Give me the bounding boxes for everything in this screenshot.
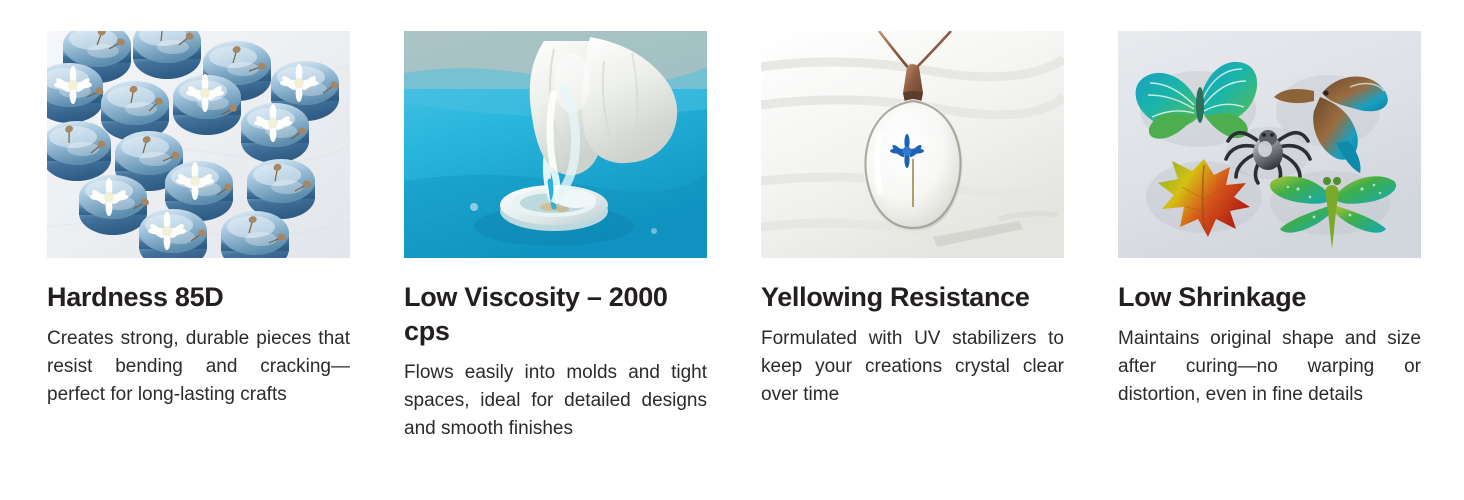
feature-heading: Low Shrinkage (1118, 280, 1421, 314)
feature-grid: Hardness 85D Creates strong, durable pie… (0, 0, 1464, 443)
feature-heading: Hardness 85D (47, 280, 350, 314)
colorful-resin-animal-figurines-photo (1118, 31, 1421, 258)
feature-description: Maintains original shape and size after … (1118, 325, 1421, 409)
feature-card-yellowing-resistance: Yellowing Resistance Formulated with UV … (761, 31, 1064, 443)
blue-resin-discs-with-pressed-flowers-photo (47, 31, 350, 258)
teardrop-resin-pendant-necklace-photo (761, 31, 1064, 258)
gloved-hand-pouring-resin-into-mold-photo (404, 31, 707, 258)
feature-heading: Yellowing Resistance (761, 280, 1064, 314)
feature-card-low-shrinkage: Low Shrinkage Maintains original shape a… (1118, 31, 1421, 443)
feature-description: Flows easily into molds and tight spaces… (404, 359, 707, 443)
feature-description: Formulated with UV stabilizers to keep y… (761, 325, 1064, 409)
feature-heading: Low Viscosity – 2000 cps (404, 280, 707, 348)
feature-description: Creates strong, durable pieces that resi… (47, 325, 350, 409)
feature-card-low-viscosity: Low Viscosity – 2000 cps Flows easily in… (404, 31, 707, 443)
feature-card-hardness: Hardness 85D Creates strong, durable pie… (47, 31, 350, 443)
